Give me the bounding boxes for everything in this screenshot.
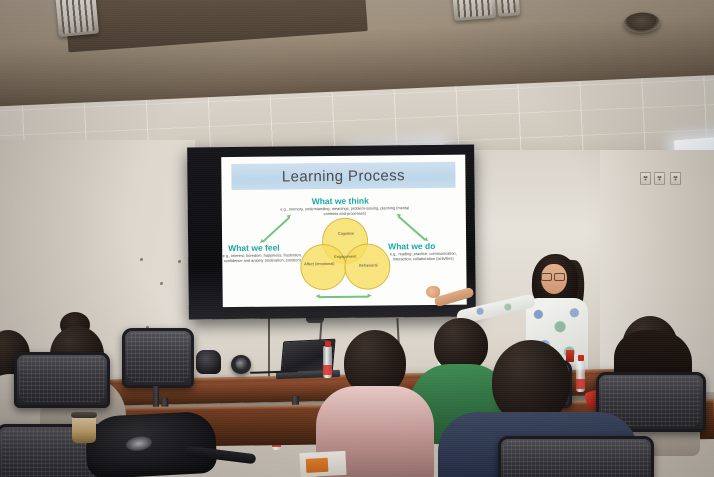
paper-notes[interactable]: [299, 451, 346, 477]
coffee-cup[interactable]: [72, 415, 96, 443]
classroom-photo: Learning Process What we think e.g., mem…: [0, 0, 714, 477]
backpack[interactable]: [84, 411, 217, 477]
ac-vent-icon: [451, 0, 496, 21]
smoke-detector-icon: [623, 12, 660, 33]
section-heading-do: What we do: [388, 241, 435, 251]
wall-mark: [178, 260, 181, 263]
chair-frame: [14, 352, 110, 408]
wall-mark: [140, 258, 143, 261]
section-heading-think: What we think: [312, 196, 369, 207]
office-chair[interactable]: [498, 436, 654, 477]
ac-vent-icon: [495, 0, 520, 17]
glasses-icon: [541, 273, 565, 279]
section-body-do: e.g., reading, practice, communication, …: [382, 251, 464, 262]
venn-label-affect: Affect (emotional): [302, 262, 336, 267]
speaker-icon[interactable]: [231, 355, 251, 374]
venn-circle-affect: [300, 244, 346, 290]
camera-device[interactable]: [196, 350, 221, 374]
presenter-hand-pointing: [426, 286, 440, 298]
wall-switch-plate[interactable]: [640, 172, 651, 185]
venn-label-behavioral: Behavioral: [350, 263, 386, 268]
slide-title: Learning Process: [282, 167, 405, 185]
office-chair[interactable]: [14, 352, 110, 408]
presentation-slide: Learning Process What we think e.g., mem…: [221, 155, 467, 308]
section-heading-feel: What we feel: [228, 243, 280, 254]
venn-label-cognitive: Cognitive: [329, 232, 363, 237]
arrow-icon-bottom: [319, 296, 369, 298]
arrow-icon-right: [398, 215, 426, 240]
ac-vent-icon: [55, 0, 99, 37]
venn-label-engagement: Engagement: [328, 255, 362, 260]
wall-data-port-plate[interactable]: [670, 172, 681, 185]
wall-mark: [160, 282, 163, 285]
chair-frame: [498, 436, 654, 477]
arrow-icon-left: [262, 217, 290, 242]
ceiling-duct: [65, 0, 368, 52]
venn-diagram: Cognitive Affect (emotional) Behavioral …: [298, 217, 391, 290]
slide-title-band: Learning Process: [231, 162, 455, 190]
section-body-think: e.g., memory, understanding, meanings, p…: [277, 205, 413, 217]
screen-mount: [306, 316, 324, 323]
wall-switch-plate[interactable]: [654, 172, 665, 185]
section-body-feel: e.g., interest, boredom, happiness, frus…: [222, 252, 302, 263]
backpack-logo: [125, 435, 153, 452]
